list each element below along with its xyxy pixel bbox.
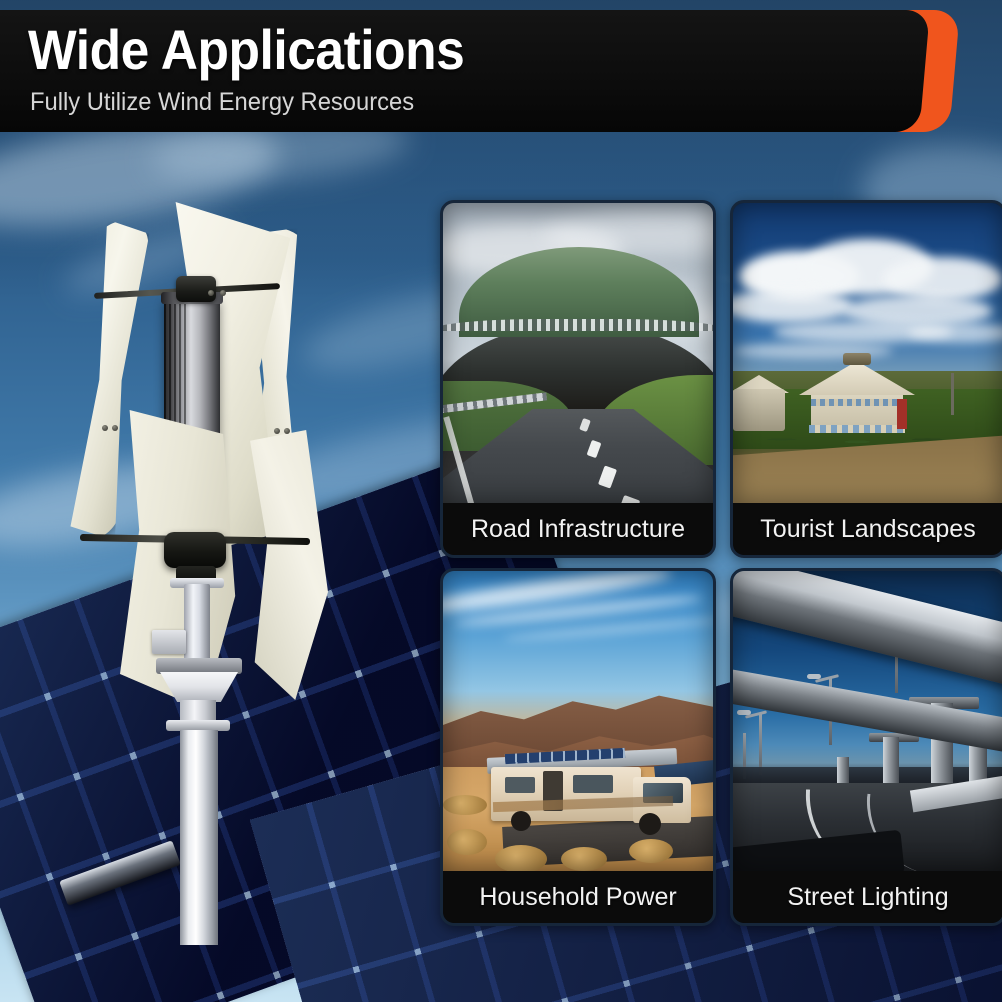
application-card-tourist-landscapes[interactable]: Tourist Landscapes	[730, 200, 1002, 558]
card-label: Household Power	[479, 885, 676, 910]
page-title: Wide Applications	[28, 22, 464, 78]
card-photo-household-power	[443, 571, 713, 871]
yaw-neck	[180, 700, 216, 722]
desert-scene	[443, 571, 713, 871]
application-card-household-power[interactable]: Household Power	[440, 568, 716, 926]
desert-bush	[495, 845, 547, 871]
card-label: Road Infrastructure	[471, 517, 685, 542]
card-photo-tourist-landscapes	[733, 203, 1002, 503]
blade-bolt	[208, 290, 214, 296]
card-photo-road-infrastructure	[443, 203, 713, 503]
application-card-street-lighting[interactable]: Street Lighting	[730, 568, 1002, 926]
rv-window	[573, 775, 613, 793]
card-caption-road-infrastructure: Road Infrastructure	[443, 503, 713, 555]
application-poster: Wide Applications Fully Utilize Wind Ene…	[0, 0, 1002, 1002]
cumulus-cloud	[733, 289, 853, 323]
utility-pole	[951, 373, 954, 415]
yurt-crown-ring	[843, 353, 871, 365]
mast-upper-section	[184, 584, 210, 668]
desert-bush	[443, 795, 487, 815]
rv-wheel	[511, 811, 531, 831]
rv-window	[505, 777, 535, 793]
blade-bolt	[220, 290, 226, 296]
turbine-lower-hub	[164, 532, 226, 568]
card-caption-household-power: Household Power	[443, 871, 713, 923]
highway-interchange-scene	[733, 571, 1002, 871]
streetlight-head	[807, 674, 821, 679]
desert-bush	[447, 829, 487, 855]
desert-bush	[561, 847, 607, 871]
desert-bush	[629, 839, 673, 863]
mast-tower	[180, 730, 218, 945]
header-banner: Wide Applications Fully Utilize Wind Ene…	[0, 10, 960, 132]
road-scene	[443, 203, 713, 503]
vertical-axis-wind-turbine	[60, 180, 340, 760]
blade-bolt	[274, 428, 280, 434]
card-label: Street Lighting	[787, 885, 948, 910]
application-card-road-infrastructure[interactable]: Road Infrastructure	[440, 200, 716, 558]
streetlight-pole	[759, 713, 762, 775]
bridge-railing	[443, 319, 713, 331]
page-subtitle: Fully Utilize Wind Energy Resources	[30, 90, 414, 115]
card-caption-tourist-landscapes: Tourist Landscapes	[733, 503, 1002, 555]
grassland-scene	[733, 203, 1002, 503]
application-card-grid: Road Infrastructure	[440, 200, 1000, 924]
blade-bolt	[102, 425, 108, 431]
card-label: Tourist Landscapes	[760, 517, 975, 542]
card-photo-street-lighting	[733, 571, 1002, 871]
lower-viaduct-deck	[733, 664, 1002, 755]
mast-side-bracket	[152, 630, 186, 654]
streetlight-head	[737, 710, 751, 715]
yaw-base-plate	[156, 658, 242, 674]
blade-bolt	[112, 425, 118, 431]
blade-bolt	[284, 428, 290, 434]
turbine-blade-right-lower	[250, 430, 328, 700]
turbine-upper-hub	[176, 276, 216, 302]
rv-wheel	[639, 813, 661, 835]
yaw-cone-housing	[160, 672, 238, 702]
yurt-decorative-band	[811, 399, 903, 406]
elevated-highway-deck	[733, 571, 1002, 692]
card-caption-street-lighting: Street Lighting	[733, 871, 1002, 923]
